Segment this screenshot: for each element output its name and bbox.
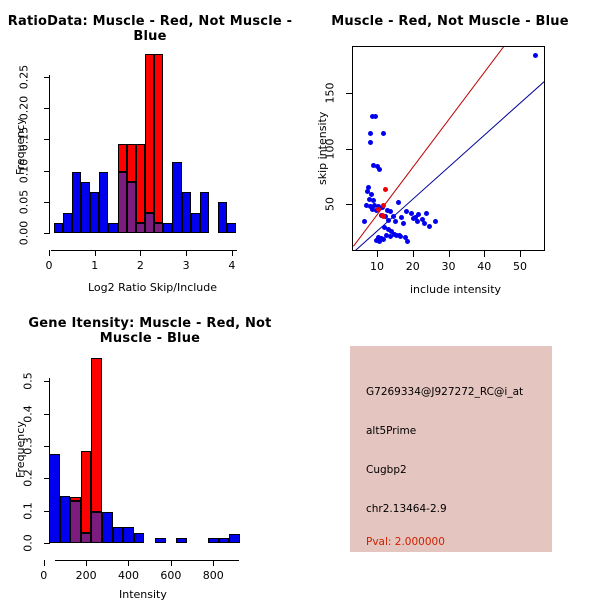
scatter-panel: Muscle - Red, Not Muscle - Blue 50100150…	[300, 0, 600, 300]
scatter-y-tick	[346, 204, 352, 205]
gene-y-tick	[44, 543, 50, 544]
ratio-x-tick-label: 3	[183, 259, 190, 272]
histogram-bar	[54, 223, 63, 233]
scatter-plot-area	[352, 46, 545, 251]
gene-histogram-bars	[49, 357, 245, 543]
histogram-bar	[218, 202, 227, 233]
scatter-point	[415, 219, 420, 224]
scatter-y-tick	[346, 93, 352, 94]
scatter-y-tick-label: 50	[324, 197, 337, 211]
gene-y-tick-label: 0.1	[22, 502, 35, 520]
gene-y-axis-label: Frequency	[14, 421, 27, 478]
scatter-x-tick	[377, 251, 378, 257]
ratio-x-tick-label: 1	[91, 259, 98, 272]
histogram-bar	[155, 538, 166, 543]
scatter-point	[377, 239, 382, 244]
scatter-point	[391, 214, 396, 219]
gene-x-axis-label: Intensity	[119, 588, 167, 601]
ratio-x-tick-label: 0	[46, 259, 53, 272]
scatter-x-tick	[484, 251, 485, 257]
gene-y-tick-label: 0.5	[22, 373, 35, 391]
histogram-bar	[191, 213, 200, 233]
histogram-bar	[63, 213, 72, 233]
gene-info-panel: G7269334@J927272_RC@i_at alt5Prime Cugbp…	[350, 346, 552, 552]
histogram-bar	[227, 223, 236, 233]
ratio-y-tick-label: 0.25	[18, 65, 31, 90]
histogram-bar	[81, 182, 90, 233]
gene-x-tick	[86, 560, 87, 566]
histogram-bar	[127, 182, 136, 233]
ratio-histogram-panel: RatioData: Muscle - Red, Not Muscle - Bl…	[0, 0, 300, 300]
gene-x-tick-label: 0	[40, 569, 47, 582]
scatter-point	[381, 131, 386, 136]
ratio-y-axis-label: Frequency	[14, 118, 27, 175]
scatter-point	[381, 203, 386, 208]
histogram-bar	[154, 54, 163, 223]
scatter-x-tick-label: 10	[370, 260, 384, 273]
histogram-bar	[145, 213, 154, 233]
scatter-point	[377, 167, 382, 172]
scatter-point	[403, 235, 408, 240]
gene-symbol-text: Cugbp2	[366, 464, 407, 476]
scatter-point	[396, 200, 401, 205]
gene-y-tick-label: 0.4	[22, 405, 35, 423]
histogram-bar	[136, 223, 145, 233]
histogram-bar	[72, 172, 81, 233]
scatter-y-tick	[346, 149, 352, 150]
scatter-point	[388, 234, 393, 239]
histogram-bar	[118, 144, 127, 173]
ratio-x-tick	[186, 250, 187, 256]
scatter-point	[393, 219, 398, 224]
gene-y-tick-label: 0.0	[22, 534, 35, 552]
scatter-point	[433, 219, 438, 224]
ratio-x-tick	[49, 250, 50, 256]
scatter-point	[386, 218, 391, 223]
histogram-bar	[49, 454, 60, 543]
gene-x-tick-label: 400	[118, 569, 139, 582]
gene-histogram-panel: Gene Itensity: Muscle - Red, Not Muscle …	[0, 300, 300, 600]
gene-x-tick	[213, 560, 214, 566]
scatter-x-tick-label: 50	[513, 260, 527, 273]
histogram-bar	[229, 534, 240, 543]
gene-x-axis	[55, 560, 239, 561]
histogram-bar	[113, 527, 124, 543]
regression-line-muscle-fit	[353, 47, 504, 247]
scatter-x-tick-label: 30	[442, 260, 456, 273]
scatter-point	[368, 140, 373, 145]
scatter-x-tick	[413, 251, 414, 257]
scatter-x-tick	[449, 251, 450, 257]
scatter-x-tick-label: 40	[477, 260, 491, 273]
scatter-point	[405, 239, 410, 244]
ratio-y-tick-label: 0.00	[18, 221, 31, 246]
pval-text: Pval: 2.000000	[366, 536, 445, 548]
scatter-y-axis-label: skip intensity	[316, 112, 329, 185]
histogram-bar	[134, 533, 145, 543]
locus-text: chr2.13464-2.9	[366, 503, 447, 515]
histogram-bar	[118, 172, 127, 233]
ratio-y-tick-label: 0.20	[18, 96, 31, 121]
gene-x-tick-label: 200	[76, 569, 97, 582]
histogram-bar	[127, 144, 136, 183]
histogram-bar	[91, 512, 102, 543]
histogram-bar	[208, 538, 219, 543]
ratio-y-tick	[44, 233, 50, 234]
gene-x-tick	[128, 560, 129, 566]
ratio-x-tick	[95, 250, 96, 256]
scatter-point	[373, 114, 378, 119]
histogram-bar	[182, 192, 191, 233]
ratio-x-tick-label: 2	[137, 259, 144, 272]
gene-histogram-title: Gene Itensity: Muscle - Red, Not Muscle …	[0, 316, 300, 346]
scatter-point	[383, 187, 388, 192]
ratio-histogram-bars	[49, 55, 241, 233]
scatter-point	[369, 192, 374, 197]
histogram-bar	[219, 538, 230, 543]
scatter-y-tick-label: 150	[324, 82, 337, 103]
histogram-bar	[102, 512, 113, 543]
histogram-bar	[154, 223, 163, 233]
histogram-bar	[136, 144, 145, 223]
histogram-bar	[172, 162, 181, 233]
ratio-histogram-title: RatioData: Muscle - Red, Not Muscle - Bl…	[0, 14, 300, 44]
ratio-x-tick	[140, 250, 141, 256]
ratio-x-axis-label: Log2 Ratio Skip/Include	[88, 281, 217, 294]
histogram-bar	[176, 538, 187, 543]
histogram-bar	[70, 501, 81, 543]
gene-x-tick-label: 600	[160, 569, 181, 582]
gene-x-tick	[171, 560, 172, 566]
histogram-bar	[81, 451, 92, 533]
histogram-bar	[81, 533, 92, 543]
histogram-bar	[145, 54, 154, 213]
histogram-bar	[99, 172, 108, 233]
ratio-x-tick	[232, 250, 233, 256]
histogram-bar	[123, 527, 134, 543]
scatter-point	[362, 219, 367, 224]
histogram-bar	[200, 192, 209, 233]
gene-x-tick	[44, 560, 45, 566]
scatter-point	[401, 221, 406, 226]
histogram-bar	[163, 223, 172, 233]
scatter-point	[533, 53, 538, 58]
scatter-x-tick	[520, 251, 521, 257]
scatter-point	[381, 214, 386, 219]
ratio-y-tick-label: 0.05	[18, 190, 31, 215]
histogram-bar	[91, 358, 102, 512]
scatter-point	[368, 131, 373, 136]
scatter-x-axis-label: include intensity	[410, 283, 501, 296]
ratio-x-axis	[51, 250, 237, 251]
ratio-x-tick-label: 4	[228, 259, 235, 272]
scatter-title: Muscle - Red, Not Muscle - Blue	[300, 14, 600, 29]
histogram-bar	[60, 496, 71, 543]
histogram-bar	[108, 223, 117, 233]
histogram-bar	[90, 192, 99, 233]
scatter-point	[424, 211, 429, 216]
scatter-x-tick-label: 20	[406, 260, 420, 273]
scatter-point	[427, 224, 432, 229]
gene-x-tick-label: 800	[203, 569, 224, 582]
scatter-point	[399, 215, 404, 220]
probe-id-text: G7269334@J927272_RC@i_at	[366, 386, 523, 398]
event-type-text: alt5Prime	[366, 425, 416, 437]
